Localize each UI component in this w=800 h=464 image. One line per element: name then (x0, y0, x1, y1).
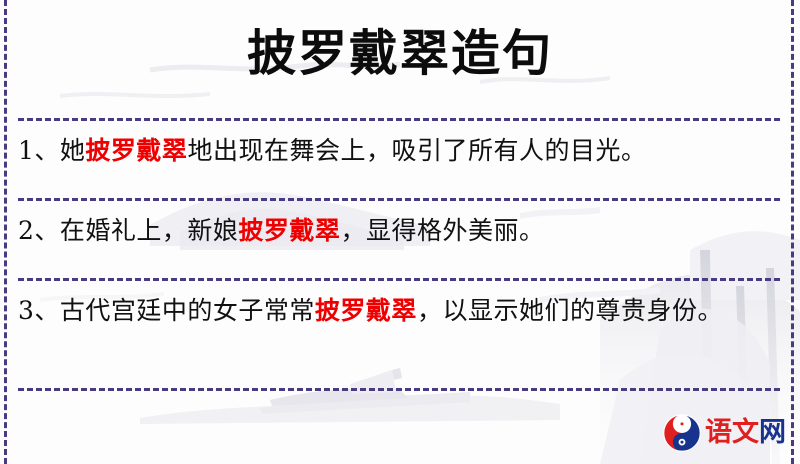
sentence-text-after-1: 地出现在舞会上，吸引了所有人的目光。 (187, 136, 646, 165)
divider-rule-2 (18, 198, 780, 201)
sentence-keyword-3: 披罗戴翠 (315, 296, 417, 325)
divider-rule-1 (18, 118, 780, 121)
watermark-text-primary: 语文 (705, 417, 759, 448)
sentence-text-after-2: ，显得格外美丽。 (340, 216, 544, 245)
sentence-item-1: 1、她披罗戴翠地出现在舞会上，吸引了所有人的目光。 (18, 129, 766, 173)
watermark-text: 语文网 (705, 418, 786, 448)
sentence-text-before-3: 古代宫廷中的女子常常 (60, 296, 315, 325)
divider-rule-4 (18, 388, 780, 391)
sentence-index-1: 1、 (18, 136, 60, 165)
worksheet-page: 披罗戴翠造句 1、她披罗戴翠地出现在舞会上，吸引了所有人的目光。 2、在婚礼上，… (0, 0, 800, 464)
page-title: 披罗戴翠造句 (0, 24, 800, 82)
sentence-keyword-2: 披罗戴翠 (238, 216, 340, 245)
sentence-item-2: 2、在婚礼上，新娘披罗戴翠，显得格外美丽。 (18, 209, 766, 253)
watermark-text-secondary: 网 (759, 417, 786, 448)
sentence-keyword-1: 披罗戴翠 (85, 136, 187, 165)
sentence-item-3: 3、古代宫廷中的女子常常披罗戴翠，以显示她们的尊贵身份。 (18, 289, 766, 333)
sentence-text-after-3: ，以显示她们的尊贵身份。 (417, 296, 723, 325)
sentence-index-3: 3、 (18, 296, 60, 325)
sentence-text-before-2: 在婚礼上，新娘 (60, 216, 239, 245)
divider-rule-3 (18, 278, 780, 281)
sentence-index-2: 2、 (18, 216, 60, 245)
sentence-text-before-1: 她 (60, 136, 86, 165)
taiji-logo-icon (663, 414, 701, 452)
site-watermark: 语文网 (663, 411, 785, 455)
